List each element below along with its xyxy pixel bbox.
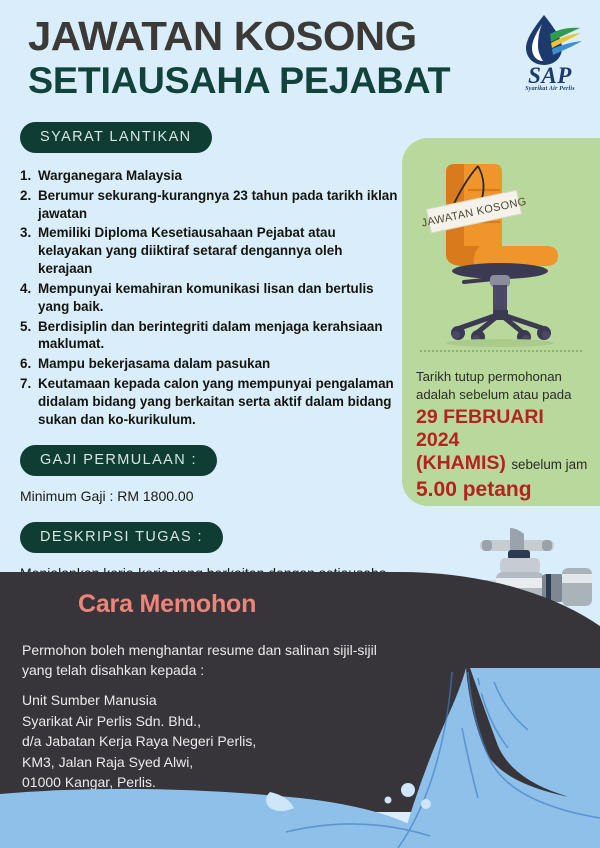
green-info-panel: JAWATAN KOSONG Tarikh tutup permohonan a… [402, 138, 600, 506]
salary-value: Minimum Gaji : RM 1800.00 [20, 487, 400, 507]
list-item-text: Memiliki Diploma Kesetiausahaan Pejabat … [38, 224, 400, 277]
badge-gaji-permulaan: GAJI PERMULAAN : [20, 445, 217, 476]
list-item: 4. Mempunyai kemahiran komunikasi lisan … [20, 280, 400, 316]
sap-logo: SAP Syarikat Air Perlis [514, 12, 586, 98]
list-item-number: 5. [20, 318, 38, 354]
list-item: 2. Berumur sekurang-kurangnya 23 tahun p… [20, 187, 400, 223]
list-item: 1. Warganegara Malaysia [20, 167, 400, 185]
list-item-text: Mempunyai kemahiran komunikasi lisan dan… [38, 280, 400, 316]
list-item-number: 6. [20, 355, 38, 373]
apply-intro-line1: Permohon boleh menghantar resume dan sal… [22, 640, 422, 660]
poster-root: JAWATAN KOSONG SETIAUSAHA PEJABAT SAP Sy… [0, 0, 600, 848]
deadline-time: 5.00 petang [416, 477, 592, 502]
salary-section: GAJI PERMULAAN : Minimum Gaji : RM 1800.… [20, 445, 400, 507]
badge-deskripsi-tugas: DESKRIPSI TUGAS : [20, 522, 223, 553]
list-item-text: Warganegara Malaysia [38, 167, 400, 185]
list-item: 5. Berdisiplin dan berintegriti dalam me… [20, 318, 400, 354]
chair-icon: JAWATAN KOSONG [402, 142, 600, 347]
list-item-number: 4. [20, 280, 38, 316]
list-item-number: 3. [20, 224, 38, 277]
page-title-line2: SETIAUSAHA PEJABAT [28, 62, 450, 99]
list-item: 3. Memiliki Diploma Kesetiausahaan Pejab… [20, 224, 400, 277]
list-item: 6. Mampu bekerjasama dalam pasukan [20, 355, 400, 373]
deadline-before-label: sebelum jam [511, 457, 587, 472]
deadline-day-row: (KHAMIS) sebelum jam [416, 452, 592, 475]
deadline-date: 29 FEBRUARI 2024 [416, 406, 592, 452]
poster-header: JAWATAN KOSONG SETIAUSAHA PEJABAT SAP Sy… [0, 0, 600, 112]
panel-divider [420, 350, 582, 352]
section-title-cara-memohon: Cara Memohon [78, 590, 256, 619]
list-item: 7. Keutamaan kepada calon yang mempunyai… [20, 375, 400, 428]
list-item-number: 2. [20, 187, 38, 223]
list-item-text: Mampu bekerjasama dalam pasukan [38, 355, 400, 373]
page-title-line1: JAWATAN KOSONG [28, 16, 417, 57]
list-item-text: Berumur sekurang-kurangnya 23 tahun pada… [38, 187, 400, 223]
dark-band-droplets [250, 782, 450, 822]
list-item-text: Berdisiplin dan berintegriti dalam menja… [38, 318, 400, 354]
deadline-lead-line1: Tarikh tutup permohonan [416, 368, 592, 386]
badge-syarat-lantikan: SYARAT LANTIKAN [20, 122, 212, 153]
logo-wordmark: SAP [514, 64, 586, 87]
office-chair-illustration: JAWATAN KOSONG [402, 142, 600, 347]
deadline-block: Tarikh tutup permohonan adalah sebelum a… [416, 368, 592, 502]
list-item-text: Keutamaan kepada calon yang mempunyai pe… [38, 375, 400, 428]
list-item-number: 7. [20, 375, 38, 428]
logo-tagline: Syarikat Air Perlis [514, 86, 586, 92]
deadline-day: (KHAMIS) [416, 452, 506, 474]
deadline-lead-line2: adalah sebelum atau pada [416, 386, 592, 404]
list-item-number: 1. [20, 167, 38, 185]
requirements-list: 1. Warganegara Malaysia 2. Berumur sekur… [20, 167, 400, 429]
